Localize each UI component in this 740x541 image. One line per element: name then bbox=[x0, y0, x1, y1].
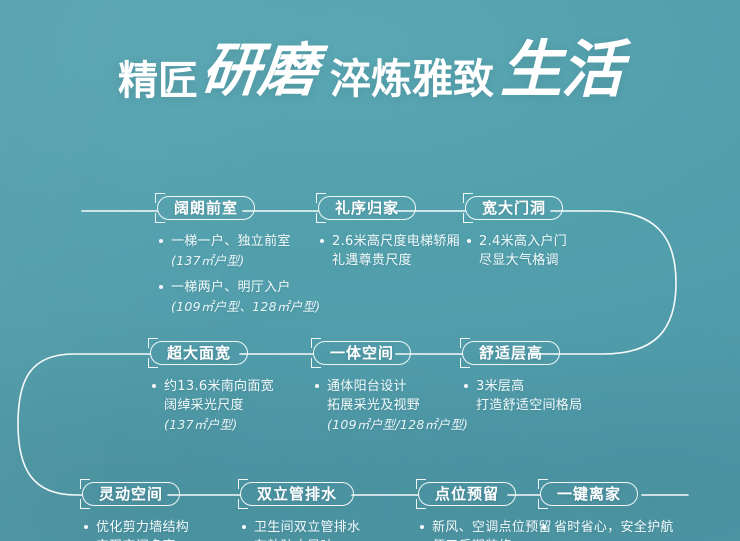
feature-cell-yitikongjian[interactable]: 一体空间 通体阳台设计 拓展采光及视野 (109㎡户型/128㎡户型) bbox=[313, 341, 468, 442]
bullet-sub-text: 便于后期装修 bbox=[432, 537, 552, 541]
feature-label-lixuguijia[interactable]: 礼序归家 bbox=[318, 196, 416, 220]
bullet-sub-text: 尽显大气格调 bbox=[479, 251, 567, 270]
bullet-main-text: 3米层高 bbox=[476, 377, 582, 396]
feature-bullet-list: 卫生间双立管排水 有效防止异味 bbox=[240, 518, 360, 541]
list-item: 通体阳台设计 拓展采光及视野 (109㎡户型/128㎡户型) bbox=[313, 377, 468, 434]
corner-bracket-bottom-icon bbox=[155, 213, 165, 223]
feature-label-text: 阔朗前室 bbox=[174, 197, 238, 219]
title-part-1: 精匠 bbox=[118, 61, 198, 101]
corner-bracket-bottom-icon bbox=[538, 499, 548, 509]
corner-bracket-top-icon bbox=[460, 338, 470, 348]
bullet-main-text: 新风、空调点位预留 bbox=[432, 518, 552, 537]
corner-bracket-top-icon bbox=[316, 193, 326, 203]
bullet-main-text: 约13.6米南向面宽 bbox=[164, 377, 274, 396]
feature-bullet-list: 优化剪力墙结构 实现空间多变 bbox=[82, 518, 189, 541]
bullet-main-text: 省时省心，安全护航 bbox=[554, 518, 674, 537]
feature-cell-lixuguijia[interactable]: 礼序归家 2.6米高尺度电梯轿厢 礼遇尊贵尺度 bbox=[318, 196, 460, 278]
feature-cell-yijianlijia[interactable]: 一键离家 省时省心，安全护航 bbox=[540, 482, 674, 541]
feature-label-text: 舒适层高 bbox=[479, 342, 543, 364]
bullet-main-text: 一梯一户、独立前室 bbox=[171, 232, 320, 251]
bullet-sub-text: 拓展采光及视野 bbox=[327, 396, 468, 415]
feature-bullet-list: 约13.6米南向面宽 阔绰采光尺度 (137㎡户型) bbox=[150, 377, 274, 434]
feature-cell-dianweiyuliu[interactable]: 点位预留 新风、空调点位预留 便于后期装修 bbox=[418, 482, 552, 541]
feature-cell-shuanglipaishui[interactable]: 双立管排水 卫生间双立管排水 有效防止异味 bbox=[240, 482, 360, 541]
feature-label-text: 点位预留 bbox=[435, 483, 499, 505]
corner-bracket-bottom-icon bbox=[316, 213, 326, 223]
bullet-sub-text: (137㎡户型) bbox=[171, 251, 320, 270]
bullet-sub-text: 打造舒适空间格局 bbox=[476, 396, 582, 415]
feature-label-lingdongkongjian[interactable]: 灵动空间 bbox=[82, 482, 180, 506]
feature-label-shushicenggao[interactable]: 舒适层高 bbox=[462, 341, 560, 365]
corner-bracket-top-icon bbox=[148, 338, 158, 348]
list-item: 2.6米高尺度电梯轿厢 礼遇尊贵尺度 bbox=[318, 232, 460, 270]
feature-cell-shushicenggao[interactable]: 舒适层高 3米层高 打造舒适空间格局 bbox=[462, 341, 582, 423]
corner-bracket-bottom-icon bbox=[80, 499, 90, 509]
feature-label-shuanglipaishui[interactable]: 双立管排水 bbox=[240, 482, 354, 506]
feature-cell-kuandamendong[interactable]: 宽大门洞 2.4米高入户门 尽显大气格调 bbox=[465, 196, 567, 278]
connector-uturn-left bbox=[18, 354, 150, 495]
feature-label-kuandamendong[interactable]: 宽大门洞 bbox=[465, 196, 563, 220]
feature-label-yitikongjian[interactable]: 一体空间 bbox=[313, 341, 411, 365]
feature-label-text: 灵动空间 bbox=[99, 483, 163, 505]
bullet-sub-text: 有效防止异味 bbox=[254, 537, 360, 541]
corner-bracket-top-icon bbox=[463, 193, 473, 203]
corner-bracket-top-icon bbox=[155, 193, 165, 203]
bullet-note-text: (109㎡户型/128㎡户型) bbox=[327, 415, 468, 434]
corner-bracket-top-icon bbox=[80, 479, 90, 489]
feature-bullet-list: 新风、空调点位预留 便于后期装修 bbox=[418, 518, 552, 541]
feature-label-dianweiyuliu[interactable]: 点位预留 bbox=[418, 482, 516, 506]
bullet-main-text: 2.6米高尺度电梯轿厢 bbox=[332, 232, 460, 251]
title-part-2: 研磨 bbox=[199, 41, 319, 99]
corner-bracket-top-icon bbox=[538, 479, 548, 489]
bullet-main-text: 通体阳台设计 bbox=[327, 377, 468, 396]
feature-label-text: 一键离家 bbox=[557, 483, 621, 505]
corner-bracket-bottom-icon bbox=[238, 499, 248, 509]
corner-bracket-top-icon bbox=[311, 338, 321, 348]
feature-label-text: 一体空间 bbox=[330, 342, 394, 364]
title-part-3: 淬炼雅致 bbox=[330, 59, 494, 100]
page-title: 精匠研磨淬炼雅致生活 bbox=[0, 36, 740, 98]
list-item: 新风、空调点位预留 便于后期装修 bbox=[418, 518, 552, 541]
corner-bracket-bottom-icon bbox=[311, 358, 321, 368]
bullet-sub-text: 礼遇尊贵尺度 bbox=[332, 251, 460, 270]
list-item: 2.4米高入户门 尽显大气格调 bbox=[465, 232, 567, 270]
feature-bullet-list: 一梯一户、独立前室 (137㎡户型) 一梯两户、明厅入户 (109㎡户型、128… bbox=[157, 232, 320, 316]
corner-bracket-top-icon bbox=[416, 479, 426, 489]
feature-bullet-list: 省时省心，安全护航 bbox=[540, 518, 674, 537]
feature-bullet-list: 通体阳台设计 拓展采光及视野 (109㎡户型/128㎡户型) bbox=[313, 377, 468, 434]
feature-label-chaodamiankuan[interactable]: 超大面宽 bbox=[150, 341, 248, 365]
bullet-sub-text: 实现空间多变 bbox=[96, 537, 189, 541]
title-part-4: 生活 bbox=[500, 39, 622, 101]
list-item: 约13.6米南向面宽 阔绰采光尺度 (137㎡户型) bbox=[150, 377, 274, 434]
list-item: 卫生间双立管排水 有效防止异味 bbox=[240, 518, 360, 541]
feature-label-yijianlijia[interactable]: 一键离家 bbox=[540, 482, 638, 506]
list-item: 一梯一户、独立前室 (137㎡户型) bbox=[157, 232, 320, 270]
bullet-main-text: 优化剪力墙结构 bbox=[96, 518, 189, 537]
feature-cell-chaodamiankuan[interactable]: 超大面宽 约13.6米南向面宽 阔绰采光尺度 (137㎡户型) bbox=[150, 341, 274, 442]
feature-label-text: 礼序归家 bbox=[335, 197, 399, 219]
poster-canvas: 精匠研磨淬炼雅致生活 bbox=[0, 0, 740, 541]
corner-bracket-bottom-icon bbox=[463, 213, 473, 223]
bullet-main-text: 2.4米高入户门 bbox=[479, 232, 567, 251]
feature-bullet-list: 3米层高 打造舒适空间格局 bbox=[462, 377, 582, 415]
feature-cell-lingdongkongjian[interactable]: 灵动空间 优化剪力墙结构 实现空间多变 bbox=[82, 482, 189, 541]
corner-bracket-bottom-icon bbox=[460, 358, 470, 368]
feature-label-text: 宽大门洞 bbox=[482, 197, 546, 219]
list-item: 省时省心，安全护航 bbox=[540, 518, 674, 537]
bullet-note-text: (137㎡户型) bbox=[164, 415, 274, 434]
feature-bullet-list: 2.6米高尺度电梯轿厢 礼遇尊贵尺度 bbox=[318, 232, 460, 270]
bullet-main-text: 一梯两户、明厅入户 bbox=[171, 278, 320, 297]
feature-label-text: 双立管排水 bbox=[257, 483, 337, 505]
feature-label-text: 超大面宽 bbox=[167, 342, 231, 364]
bullet-sub-text: 阔绰采光尺度 bbox=[164, 396, 274, 415]
bullet-main-text: 卫生间双立管排水 bbox=[254, 518, 360, 537]
corner-bracket-bottom-icon bbox=[416, 499, 426, 509]
bullet-sub-text: (109㎡户型、128㎡户型) bbox=[171, 297, 320, 316]
feature-cell-kuolangqianshi[interactable]: 阔朗前室 一梯一户、独立前室 (137㎡户型) 一梯两户、明厅入户 (109㎡户… bbox=[157, 196, 320, 324]
feature-label-kuolangqianshi[interactable]: 阔朗前室 bbox=[157, 196, 255, 220]
feature-bullet-list: 2.4米高入户门 尽显大气格调 bbox=[465, 232, 567, 270]
list-item: 3米层高 打造舒适空间格局 bbox=[462, 377, 582, 415]
corner-bracket-top-icon bbox=[238, 479, 248, 489]
list-item: 一梯两户、明厅入户 (109㎡户型、128㎡户型) bbox=[157, 278, 320, 316]
list-item: 优化剪力墙结构 实现空间多变 bbox=[82, 518, 189, 541]
corner-bracket-bottom-icon bbox=[148, 358, 158, 368]
